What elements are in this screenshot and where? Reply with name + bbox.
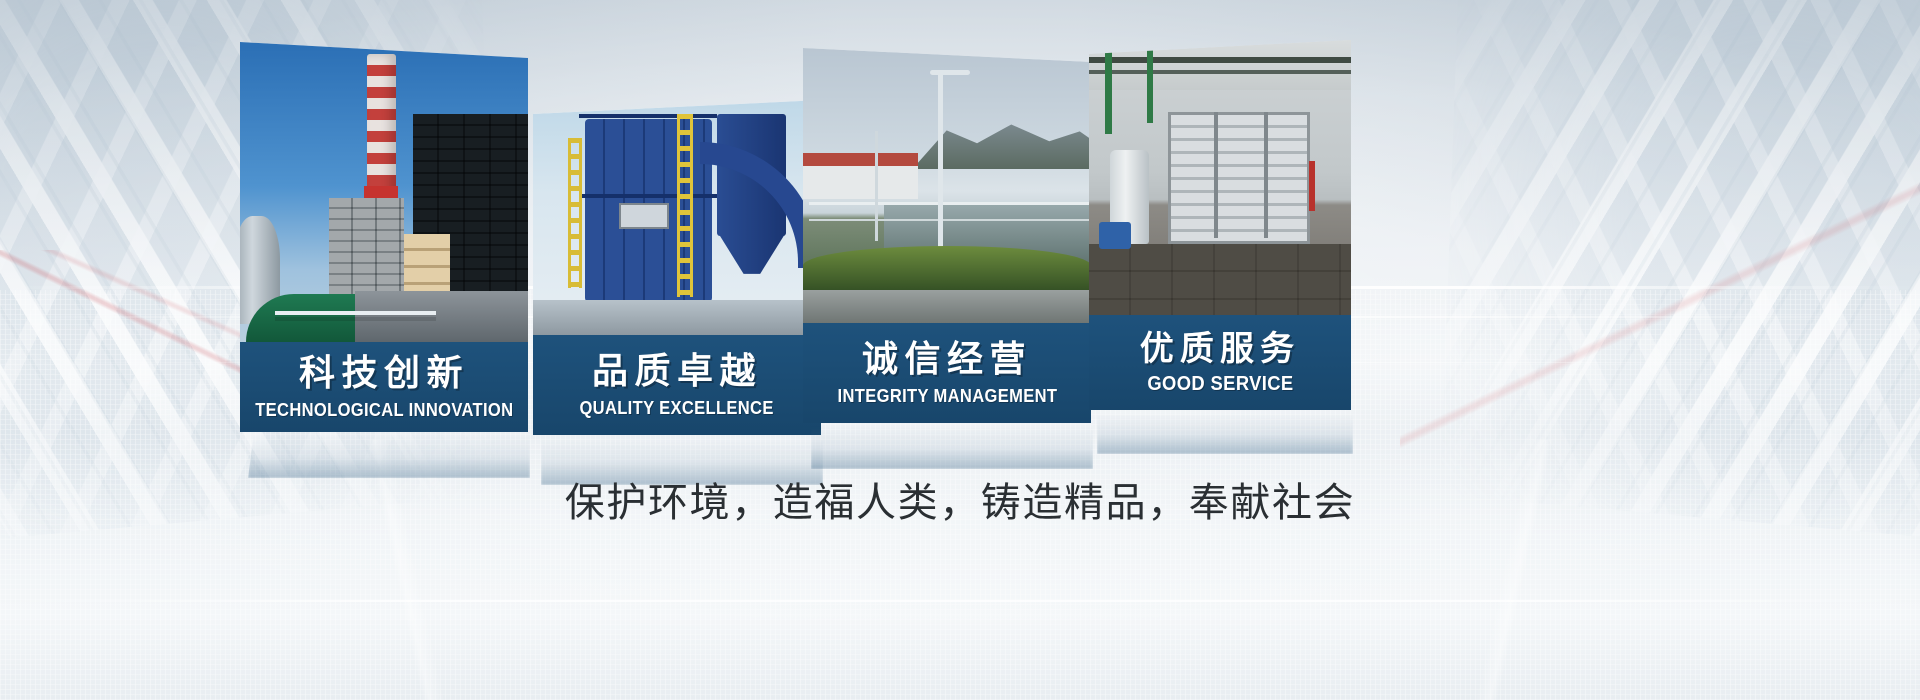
panel-caption-en: GOOD SERVICE xyxy=(1147,374,1293,394)
panel-photo-quality-excellence xyxy=(533,100,821,335)
panel-caption-zh: 科技创新 xyxy=(299,355,469,391)
panel-caption-quality-excellence: 品质卓越 QUALITY EXCELLENCE xyxy=(533,335,821,435)
panel-reflection-4 xyxy=(1097,410,1353,454)
banner-stage: 科技创新 TECHNOLOGICAL INNOVATION xyxy=(0,0,1920,700)
panel-caption-technological-innovation: 科技创新 TECHNOLOGICAL INNOVATION xyxy=(240,342,528,432)
panel-good-service[interactable]: 优质服务 GOOD SERVICE xyxy=(1089,40,1351,410)
panel-caption-good-service: 优质服务 GOOD SERVICE xyxy=(1089,315,1351,410)
panel-caption-en: QUALITY EXCELLENCE xyxy=(580,399,774,417)
panel-technological-innovation[interactable]: 科技创新 TECHNOLOGICAL INNOVATION xyxy=(240,42,528,432)
panel-photo-integrity-management xyxy=(803,48,1091,323)
panel-caption-zh: 优质服务 xyxy=(1140,332,1300,366)
panel-caption-integrity-management: 诚信经营 INTEGRITY MANAGEMENT xyxy=(803,323,1091,423)
panel-reflection-3 xyxy=(811,423,1093,469)
panel-quality-excellence[interactable]: 品质卓越 QUALITY EXCELLENCE xyxy=(533,100,821,435)
panel-caption-zh: 诚信经营 xyxy=(862,341,1032,377)
panel-integrity-management[interactable]: 诚信经营 INTEGRITY MANAGEMENT xyxy=(803,48,1091,423)
panel-caption-en: INTEGRITY MANAGEMENT xyxy=(837,387,1057,405)
panel-caption-zh: 品质卓越 xyxy=(592,353,762,389)
panel-photo-good-service xyxy=(1089,40,1351,315)
panel-photo-technological-innovation xyxy=(240,42,528,342)
panel-group: 科技创新 TECHNOLOGICAL INNOVATION xyxy=(0,0,1920,700)
panel-caption-en: TECHNOLOGICAL INNOVATION xyxy=(255,401,513,419)
banner-tagline: 保护环境，造福人类，铸造精品，奉献社会 xyxy=(0,470,1920,528)
